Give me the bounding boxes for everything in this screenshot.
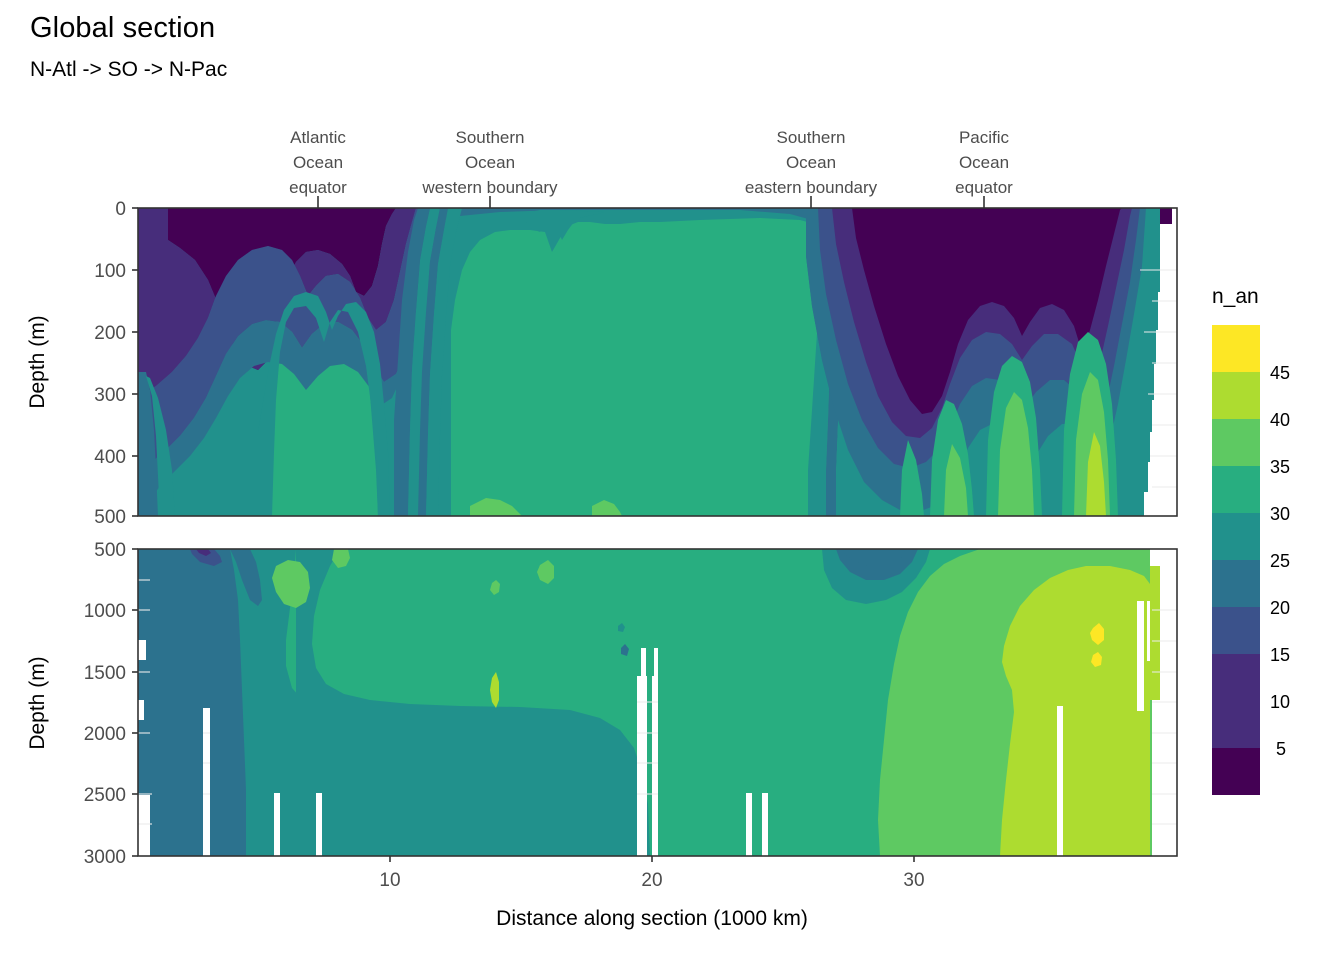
landmark-line-3: equator — [955, 178, 1013, 197]
deep-y-axis-title: Depth (m) — [26, 656, 49, 749]
legend-label-45: 45 — [1270, 363, 1290, 383]
legend-swatch-35 — [1212, 466, 1260, 513]
landmark-pacific-equator: Pacific Ocean equator — [955, 128, 1013, 197]
legend-swatch-45 — [1212, 372, 1260, 419]
landmark-southern-eastern-boundary: Southern Ocean eastern boundary — [745, 128, 878, 197]
landmark-line-1: Southern — [777, 128, 846, 147]
legend-label-5: 5 — [1276, 739, 1286, 759]
x-axis-title: Distance along section (1000 km) — [496, 907, 808, 930]
landmark-southern-western-boundary: Southern Ocean western boundary — [421, 128, 558, 197]
deep-y-tick-1000: 1000 — [84, 601, 126, 622]
upper-y-tick-100: 100 — [94, 261, 126, 282]
landmark-line-3: western boundary — [421, 178, 558, 197]
landmark-line-3: equator — [289, 178, 347, 197]
deep-y-axis: 500 1000 1500 2000 2500 3000 Depth (m) — [26, 540, 138, 868]
section-landmarks: Atlantic Ocean equator Southern Ocean we… — [289, 128, 1013, 208]
landmark-line-2: Ocean — [959, 153, 1009, 172]
landmark-line-1: Southern — [456, 128, 525, 147]
landmark-line-2: Ocean — [293, 153, 343, 172]
deep-y-tick-3000: 3000 — [84, 847, 126, 868]
legend-swatch-50 — [1212, 325, 1260, 372]
upper-y-tick-200: 200 — [94, 323, 126, 344]
legend-swatch-5 — [1212, 748, 1260, 795]
upper-y-tick-0: 0 — [115, 199, 126, 220]
legend-label-35: 35 — [1270, 457, 1290, 477]
landmark-line-1: Atlantic — [290, 128, 346, 147]
upper-y-tick-300: 300 — [94, 385, 126, 406]
legend-swatch-20 — [1212, 607, 1260, 654]
x-tick-30: 30 — [903, 870, 924, 891]
section-plot: 0 100 200 300 400 500 Depth (m) 500 1000… — [0, 0, 1344, 960]
deep-y-tick-2500: 2500 — [84, 785, 126, 806]
figure-page: Global section N-Atl -> SO -> N-Pac — [0, 0, 1344, 960]
upper-y-axis-title: Depth (m) — [26, 315, 49, 408]
legend-tick-labels: 45 40 35 30 25 20 15 10 5 — [1270, 363, 1290, 759]
landmark-line-2: Ocean — [786, 153, 836, 172]
x-tick-20: 20 — [641, 870, 662, 891]
legend-swatch-40 — [1212, 419, 1260, 466]
legend: n_an 45 40 35 30 25 20 — [1212, 285, 1290, 795]
legend-label-20: 20 — [1270, 598, 1290, 618]
legend-swatch-30 — [1212, 513, 1260, 560]
deep-ocean-panel — [138, 549, 1177, 856]
landmark-line-2: Ocean — [465, 153, 515, 172]
upper-y-tick-500: 500 — [94, 507, 126, 528]
landmark-line-1: Pacific — [959, 128, 1010, 147]
upper-ocean-contours — [138, 208, 1177, 516]
legend-swatch-10b — [1212, 701, 1260, 748]
legend-swatch-25 — [1212, 560, 1260, 607]
legend-label-15: 15 — [1270, 645, 1290, 665]
upper-y-tick-400: 400 — [94, 447, 126, 468]
x-tick-10: 10 — [379, 870, 400, 891]
legend-swatch-15 — [1212, 654, 1260, 701]
upper-ocean-panel — [138, 208, 1177, 516]
deep-y-tick-500: 500 — [94, 540, 126, 561]
legend-label-10: 10 — [1270, 692, 1290, 712]
x-axis: 10 20 30 Distance along section (1000 km… — [379, 856, 924, 930]
legend-label-30: 30 — [1270, 504, 1290, 524]
landmark-atlantic-equator: Atlantic Ocean equator — [289, 128, 347, 197]
landmark-line-3: eastern boundary — [745, 178, 878, 197]
upper-y-axis: 0 100 200 300 400 500 Depth (m) — [26, 199, 138, 528]
deep-y-tick-1500: 1500 — [84, 663, 126, 684]
legend-colorbar — [1212, 325, 1260, 795]
legend-label-25: 25 — [1270, 551, 1290, 571]
deep-y-tick-2000: 2000 — [84, 724, 126, 745]
legend-label-40: 40 — [1270, 410, 1290, 430]
legend-title: n_an — [1212, 285, 1259, 308]
